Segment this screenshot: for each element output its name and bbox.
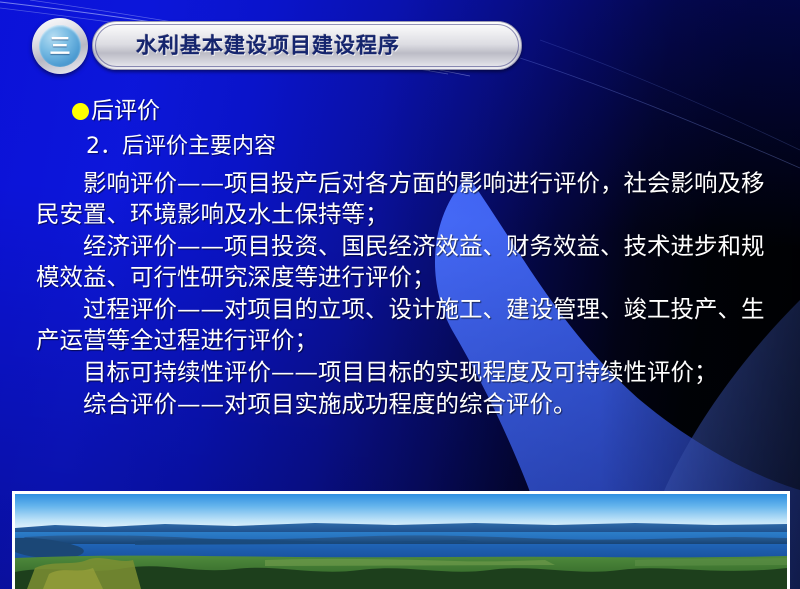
panorama-photo-frame: [12, 491, 790, 589]
page-title: 水利基本建设项目建设程序: [136, 36, 400, 57]
slide: 三 水利基本建设项目建设程序 后评价 2．后评价主要内容 影响评价——项目投产后…: [0, 0, 800, 589]
section-bullet-line: 后评价: [72, 96, 800, 126]
section-bullet-label: 后评价: [91, 98, 160, 124]
bullet-dot-icon: [72, 103, 89, 120]
chapter-three-icon-glyph: 三: [50, 36, 71, 57]
paragraph-impact-evaluation: 影响评价——项目投产后对各方面的影响进行评价，社会影响及移民安置、环境影响及水土…: [36, 168, 770, 230]
paragraph-comprehensive-evaluation: 综合评价——对项目实施成功程度的综合评价。: [36, 389, 770, 420]
paragraph-process-evaluation: 过程评价——对项目的立项、设计施工、建设管理、竣工投产、生产运营等全过程进行评价…: [36, 294, 770, 356]
paragraph-sustainability-evaluation: 目标可持续性评价——项目目标的实现程度及可持续性评价；: [36, 357, 770, 388]
chapter-three-icon: 三: [32, 18, 88, 74]
panorama-lake-landscape: [15, 494, 787, 589]
slide-title-bar: 三 水利基本建设项目建设程序: [30, 18, 522, 74]
paragraph-economic-evaluation: 经济评价——项目投资、国民经济效益、财务效益、技术进步和规模效益、可行性研究深度…: [36, 231, 770, 293]
section-subheading: 2．后评价主要内容: [86, 132, 800, 162]
slide-content: 后评价 2．后评价主要内容 影响评价——项目投产后对各方面的影响进行评价，社会影…: [0, 96, 800, 421]
